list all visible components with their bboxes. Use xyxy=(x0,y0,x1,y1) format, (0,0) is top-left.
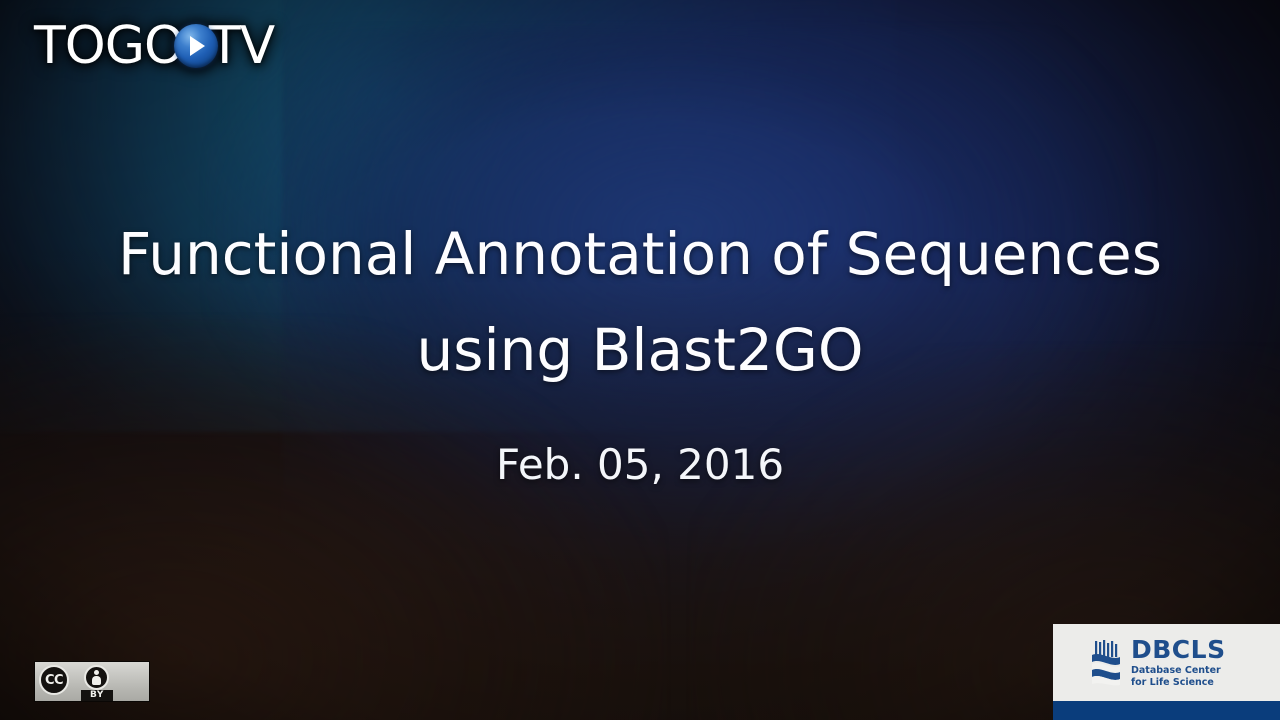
slide-title-block: Functional Annotation of Sequences using… xyxy=(0,206,1280,398)
cc-badge-by-text: BY xyxy=(81,690,113,701)
dbcls-accent-bar xyxy=(1053,701,1280,720)
togotv-logo[interactable]: TOGO TV xyxy=(34,16,274,76)
slide-stage: TOGO TV Functional Annotation of Sequenc… xyxy=(0,0,1280,720)
dbcls-text-block: DBCLS Database Center for Life Science xyxy=(1131,637,1226,688)
cc-badge-cc-text: CC xyxy=(45,674,63,687)
togotv-logo-togo-text: TOGO xyxy=(34,20,184,72)
slide-date: Feb. 05, 2016 xyxy=(0,444,1280,486)
cc-badge-inner: CC BY xyxy=(35,662,149,701)
person-icon-body xyxy=(92,676,101,685)
slide-title-line-2: using Blast2GO xyxy=(0,302,1280,398)
dbcls-logo-panel[interactable]: DBCLS Database Center for Life Science xyxy=(1053,624,1280,720)
creative-commons-by-badge[interactable]: CC BY xyxy=(34,661,150,702)
person-icon-shape xyxy=(90,670,103,685)
person-icon xyxy=(84,665,109,690)
togotv-logo-tv-text: TV xyxy=(209,20,274,72)
dbcls-name: DBCLS xyxy=(1131,637,1226,663)
play-badge-triangle xyxy=(190,36,205,56)
person-icon-head xyxy=(94,670,99,675)
dbcls-logo-row: DBCLS Database Center for Life Science xyxy=(1053,624,1280,701)
creative-commons-icon: CC xyxy=(39,665,69,695)
play-triangle-icon xyxy=(174,24,218,68)
dbcls-helix-icon xyxy=(1087,639,1123,687)
slide-title-line-1: Functional Annotation of Sequences xyxy=(0,206,1280,302)
dbcls-tagline: Database Center for Life Science xyxy=(1131,665,1226,688)
dbcls-tagline-line-2: for Life Science xyxy=(1131,677,1214,688)
dbcls-tagline-line-1: Database Center xyxy=(1131,665,1221,676)
